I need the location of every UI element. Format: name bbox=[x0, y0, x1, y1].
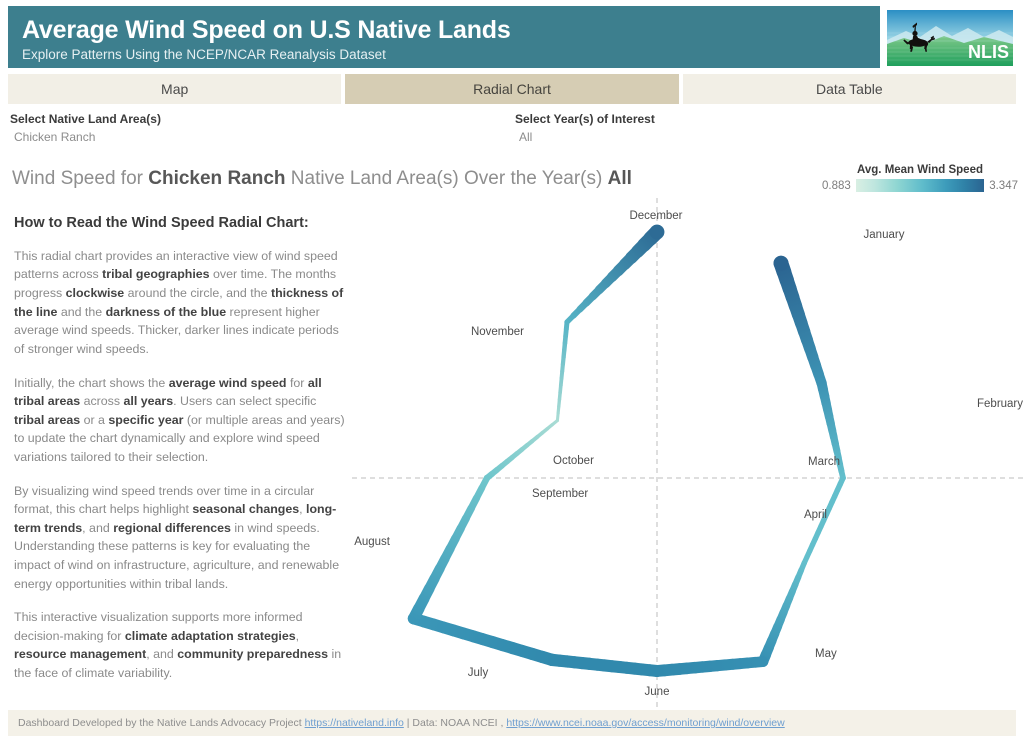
legend-scale: 0.883 3.347 bbox=[822, 179, 1018, 192]
month-label-october: October bbox=[553, 455, 594, 467]
month-label-march: March bbox=[808, 456, 840, 468]
tab-map[interactable]: Map bbox=[8, 74, 341, 104]
dashboard-root: Average Wind Speed on U.S Native Lands E… bbox=[0, 0, 1024, 744]
filter-years-label: Select Year(s) of Interest bbox=[515, 112, 655, 127]
how-to-read-heading: How to Read the Wind Speed Radial Chart: bbox=[14, 214, 346, 233]
page-title: Average Wind Speed on U.S Native Lands bbox=[22, 17, 880, 43]
chart-title-prefix: Wind Speed for bbox=[12, 168, 148, 189]
month-label-june: June bbox=[645, 686, 670, 698]
nlis-logo: NLIS bbox=[884, 6, 1016, 68]
footer-link-nativeland[interactable]: https://nativeland.info bbox=[305, 717, 404, 729]
radial-vertex[interactable] bbox=[650, 225, 665, 240]
footer-bar: Dashboard Developed by the Native Lands … bbox=[8, 710, 1016, 736]
legend-title: Avg. Mean Wind Speed bbox=[822, 164, 1018, 176]
how-to-read-paragraph-1: This radial chart provides an interactiv… bbox=[14, 247, 346, 359]
month-label-february: February bbox=[977, 398, 1023, 410]
how-to-read-paragraph-4: This interactive visualization supports … bbox=[14, 608, 346, 682]
tab-radial-chart[interactable]: Radial Chart bbox=[345, 74, 678, 104]
footer-link-noaa[interactable]: https://www.ncei.noaa.gov/access/monitor… bbox=[506, 717, 784, 729]
filter-years: Select Year(s) of Interest All bbox=[515, 112, 655, 145]
chart-title: Wind Speed for Chicken Ranch Native Land… bbox=[12, 168, 632, 190]
horseback-rider-logo-icon: NLIS bbox=[884, 6, 1016, 68]
footer-credit: Dashboard Developed by the Native Lands … bbox=[18, 717, 785, 729]
month-label-january: January bbox=[864, 229, 905, 241]
month-label-december: December bbox=[629, 210, 682, 222]
radial-vertex[interactable] bbox=[774, 256, 789, 271]
radial-line-series[interactable] bbox=[408, 225, 846, 677]
how-to-read-panel: How to Read the Wind Speed Radial Chart:… bbox=[14, 214, 346, 698]
month-label-july: July bbox=[468, 667, 489, 679]
legend-max-value: 3.347 bbox=[989, 180, 1018, 192]
month-label-april: April bbox=[804, 509, 827, 521]
filter-native-land-area: Select Native Land Area(s) Chicken Ranch bbox=[10, 112, 161, 145]
radial-chart: JanuaryFebruaryMarchAprilMayJuneJulyAugu… bbox=[352, 198, 1024, 710]
month-label-november: November bbox=[471, 326, 524, 338]
legend-min-value: 0.883 bbox=[822, 180, 851, 192]
tab-data-table[interactable]: Data Table bbox=[683, 74, 1016, 104]
tab-bar: Map Radial Chart Data Table bbox=[8, 74, 1016, 104]
logo-wordmark: NLIS bbox=[968, 42, 1009, 62]
radial-chart-svg[interactable]: JanuaryFebruaryMarchAprilMayJuneJulyAugu… bbox=[352, 198, 1024, 710]
month-label-september: September bbox=[532, 488, 588, 500]
footer-prefix: Dashboard Developed by the Native Lands … bbox=[18, 717, 305, 729]
header-title-band: Average Wind Speed on U.S Native Lands E… bbox=[8, 6, 880, 68]
legend-gradient-bar bbox=[856, 179, 984, 192]
chart-title-middle: Native Land Area(s) Over the Year(s) bbox=[286, 168, 608, 189]
footer-middle: | Data: NOAA NCEI , bbox=[404, 717, 507, 729]
chart-title-years: All bbox=[608, 168, 632, 189]
filter-years-value[interactable]: All bbox=[519, 129, 655, 145]
chart-title-area: Chicken Ranch bbox=[148, 168, 285, 189]
page-subtitle: Explore Patterns Using the NCEP/NCAR Rea… bbox=[22, 47, 880, 63]
month-label-may: May bbox=[815, 648, 837, 660]
how-to-read-paragraph-3: By visualizing wind speed trends over ti… bbox=[14, 482, 346, 594]
filter-native-land-area-value[interactable]: Chicken Ranch bbox=[14, 129, 161, 145]
filter-native-land-area-label: Select Native Land Area(s) bbox=[10, 112, 161, 127]
month-label-august: August bbox=[354, 536, 391, 548]
color-legend: Avg. Mean Wind Speed 0.883 3.347 bbox=[822, 164, 1018, 192]
how-to-read-paragraph-2: Initially, the chart shows the average w… bbox=[14, 374, 346, 467]
app-header: Average Wind Speed on U.S Native Lands E… bbox=[8, 6, 1016, 68]
filter-bar: Select Native Land Area(s) Chicken Ranch… bbox=[0, 112, 1024, 146]
